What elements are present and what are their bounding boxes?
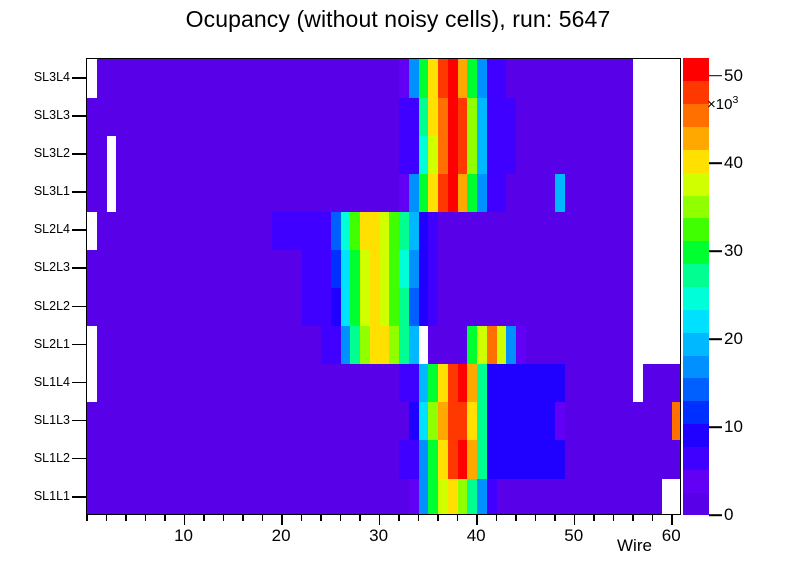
colorbar-tick-label-30: 30: [724, 241, 743, 261]
y-tick-label-sl3l1: SL3L1: [34, 184, 70, 198]
x-tick-minor: [164, 515, 166, 521]
heatmap-cell: [672, 173, 681, 212]
colorbar-band: [683, 195, 709, 218]
colorbar-tick: [709, 251, 722, 253]
colorbar-band: [683, 218, 709, 241]
heatmap-cell: [672, 249, 681, 288]
y-tick-mark: [72, 115, 86, 117]
x-tick-minor: [86, 515, 88, 521]
x-tick-minor: [554, 515, 556, 521]
colorbar-band: [683, 378, 709, 401]
colorbar-tick-label-50: 50: [724, 66, 743, 86]
y-tick-mark: [72, 153, 86, 155]
x-tick-label-10: 10: [174, 526, 193, 546]
x-tick-minor: [613, 515, 615, 521]
x-tick-label-40: 40: [467, 526, 486, 546]
colorbar-band: [683, 172, 709, 195]
heatmap-cell: [672, 211, 681, 250]
y-tick-label-sl1l3: SL1L3: [34, 413, 70, 427]
colorbar-band: [683, 149, 709, 172]
colorbar-exponent: ×103: [707, 94, 738, 113]
plot-frame: [86, 58, 681, 515]
colorbar-band: [683, 104, 709, 127]
y-tick-mark: [72, 267, 86, 269]
x-tick-label-60: 60: [662, 526, 681, 546]
colorbar-band: [683, 401, 709, 424]
x-tick-minor: [262, 515, 264, 521]
colorbar-gradient[interactable]: [683, 58, 709, 515]
colorbar-band: [683, 446, 709, 469]
x-tick-major: [379, 515, 381, 525]
x-tick-minor: [515, 515, 517, 521]
colorbar-exponent-sup: 3: [732, 94, 738, 106]
x-tick-minor: [106, 515, 108, 521]
y-tick-mark: [72, 306, 86, 308]
y-tick-label-sl2l1: SL2L1: [34, 337, 70, 351]
y-tick-label-sl2l2: SL2L2: [34, 299, 70, 313]
colorbar-tick-label-10: 10: [724, 417, 743, 437]
colorbar-band: [683, 81, 709, 104]
x-tick-label-50: 50: [564, 526, 583, 546]
heatmap-cell: [672, 59, 681, 98]
x-tick-major: [574, 515, 576, 525]
colorbar-band: [683, 469, 709, 492]
x-tick-minor: [593, 515, 595, 521]
heatmap-cell: [672, 97, 681, 136]
heatmap-cell: [672, 478, 681, 515]
colorbar-band: [683, 58, 709, 81]
y-tick-mark: [72, 458, 86, 460]
y-axis: SL1L1SL1L2SL1L3SL1L4SL2L1SL2L2SL2L3SL2L4…: [0, 58, 86, 515]
colorbar-band: [683, 492, 709, 515]
x-tick-minor: [340, 515, 342, 521]
x-axis: 102030405060: [86, 515, 681, 573]
colorbar-tick-label-20: 20: [724, 329, 743, 349]
heatmap-cell: [672, 288, 681, 327]
x-axis-title: Wire: [617, 536, 652, 556]
x-tick-label-30: 30: [369, 526, 388, 546]
y-tick-mark: [72, 382, 86, 384]
x-tick-minor: [320, 515, 322, 521]
colorbar-tick: [709, 163, 722, 165]
colorbar-band: [683, 127, 709, 150]
y-tick-label-sl2l4: SL2L4: [34, 222, 70, 236]
x-tick-minor: [145, 515, 147, 521]
x-tick-minor: [437, 515, 439, 521]
x-tick-minor: [125, 515, 127, 521]
colorbar-band: [683, 287, 709, 310]
y-tick-mark: [72, 191, 86, 193]
x-tick-minor: [242, 515, 244, 521]
heatmap-cell: [672, 135, 681, 174]
colorbar-band: [683, 332, 709, 355]
colorbar-tick: [709, 75, 722, 77]
root-canvas: Ocupancy (without noisy cells), run: 564…: [0, 0, 796, 572]
colorbar: ×103 01020304050: [683, 58, 793, 515]
y-tick-label-sl2l3: SL2L3: [34, 260, 70, 274]
x-tick-major: [476, 515, 478, 525]
x-tick-minor: [398, 515, 400, 521]
y-tick-label-sl3l2: SL3L2: [34, 146, 70, 160]
colorbar-band: [683, 309, 709, 332]
x-tick-minor: [652, 515, 654, 521]
colorbar-tick-label-40: 40: [724, 153, 743, 173]
x-tick-major: [184, 515, 186, 525]
chart-title: Ocupancy (without noisy cells), run: 564…: [0, 6, 796, 33]
y-tick-label-sl3l4: SL3L4: [34, 70, 70, 84]
colorbar-tick: [709, 514, 722, 516]
x-tick-label-20: 20: [272, 526, 291, 546]
x-tick-minor: [632, 515, 634, 521]
x-tick-minor: [223, 515, 225, 521]
y-tick-mark: [72, 420, 86, 422]
colorbar-band: [683, 424, 709, 447]
x-tick-minor: [418, 515, 420, 521]
y-tick-label-sl3l3: SL3L3: [34, 108, 70, 122]
x-tick-minor: [359, 515, 361, 521]
x-tick-major: [281, 515, 283, 525]
heatmap-cell: [672, 326, 681, 365]
heatmap-grid[interactable]: [87, 59, 680, 514]
y-tick-mark: [72, 77, 86, 79]
colorbar-tick: [709, 338, 722, 340]
x-tick-minor: [496, 515, 498, 521]
x-tick-major: [671, 515, 673, 525]
y-tick-mark: [72, 229, 86, 231]
x-tick-minor: [457, 515, 459, 521]
heatmap-cell: [672, 364, 681, 403]
y-tick-mark: [72, 496, 86, 498]
x-tick-minor: [203, 515, 205, 521]
colorbar-band: [683, 355, 709, 378]
colorbar-band: [683, 241, 709, 264]
x-tick-minor: [301, 515, 303, 521]
y-tick-mark: [72, 344, 86, 346]
x-tick-minor: [535, 515, 537, 521]
y-tick-label-sl1l4: SL1L4: [34, 375, 70, 389]
colorbar-tick: [709, 426, 722, 428]
heatmap-cell: [672, 402, 681, 441]
heatmap-cell: [672, 440, 681, 479]
y-tick-label-sl1l1: SL1L1: [34, 489, 70, 503]
colorbar-tick-label-0: 0: [724, 505, 733, 525]
colorbar-band: [683, 264, 709, 287]
y-tick-label-sl1l2: SL1L2: [34, 451, 70, 465]
